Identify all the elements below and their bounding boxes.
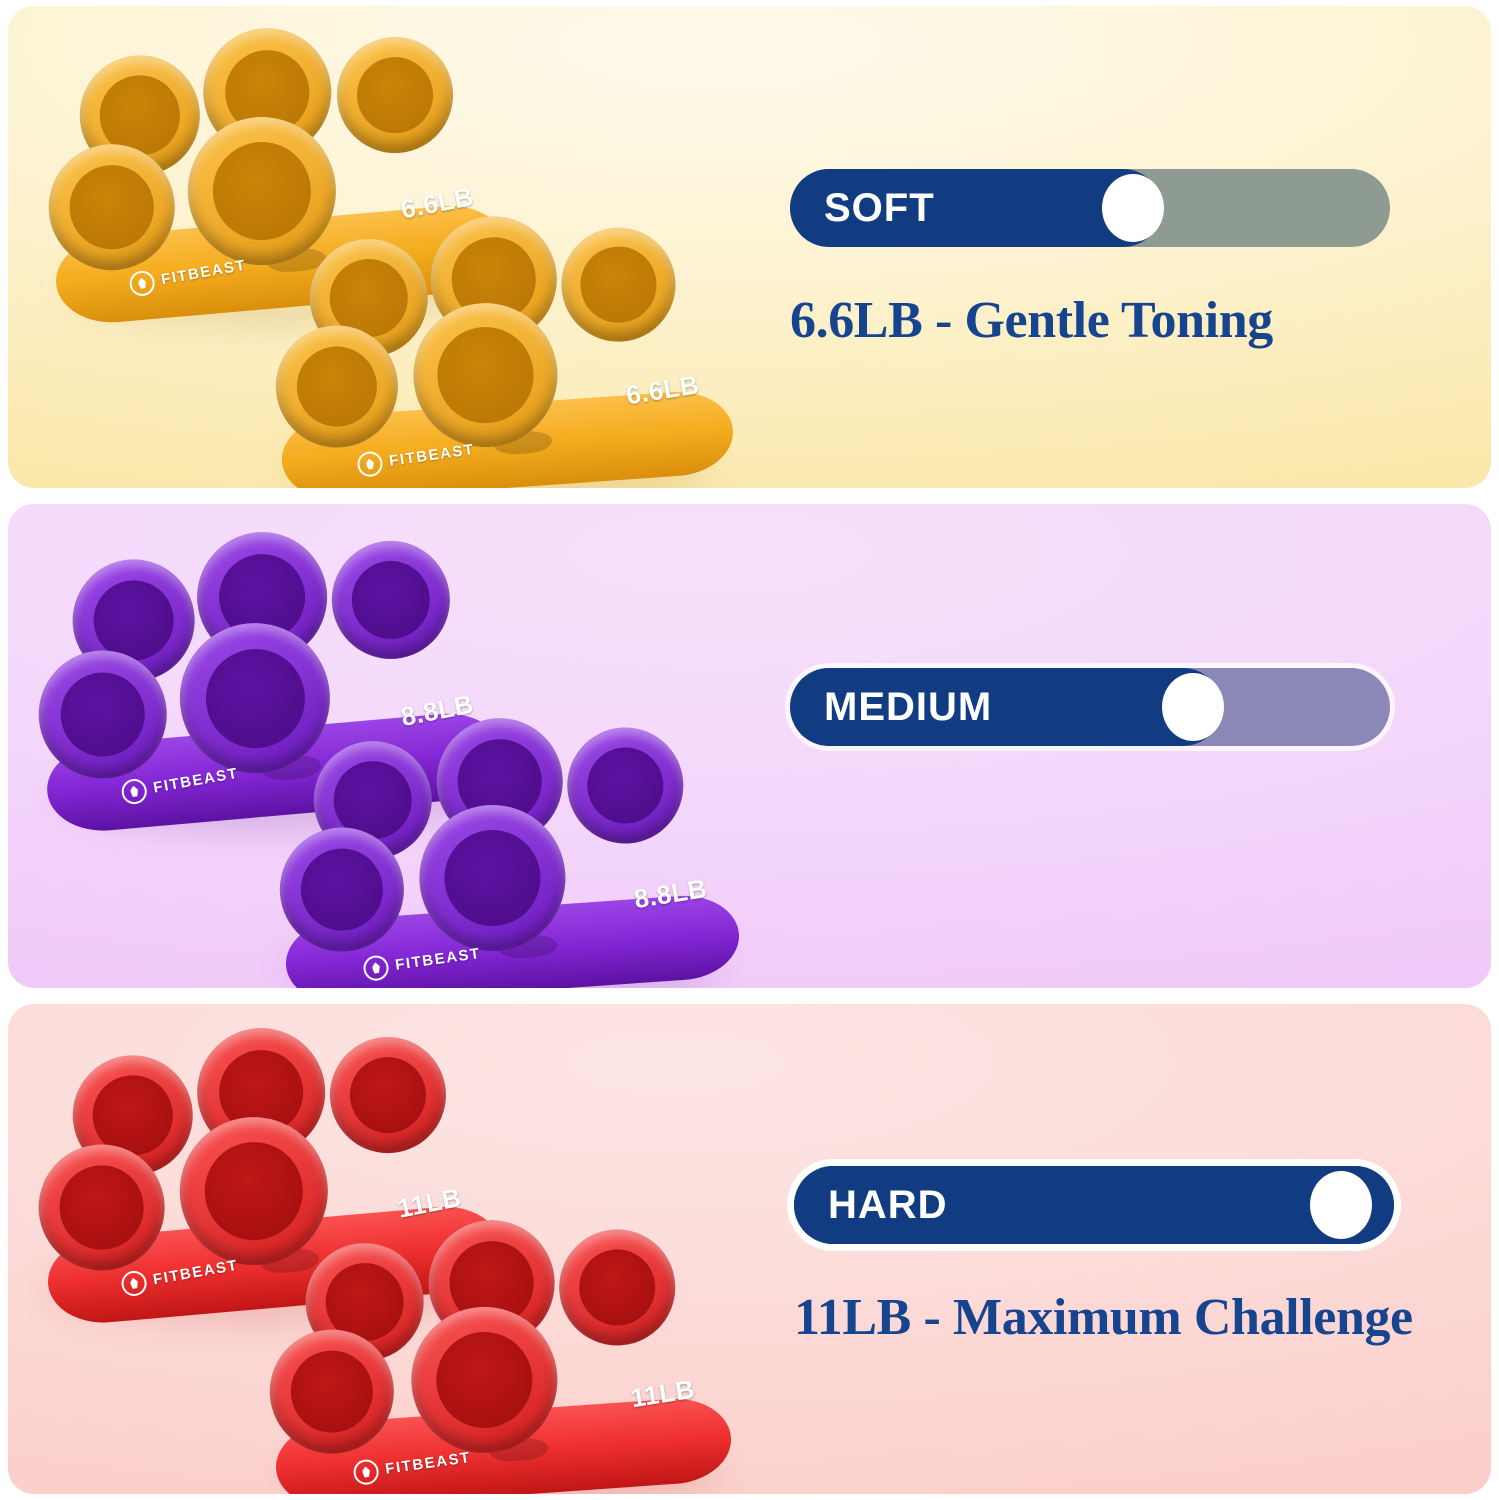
resistance-toggle-hard[interactable]: HARD	[794, 1166, 1394, 1244]
fitbeast-beast-logo-icon	[128, 269, 157, 298]
toggle-knob[interactable]	[1310, 1171, 1372, 1239]
finger-loop	[563, 724, 687, 848]
resistance-level-card-medium: 8.8LB FITBEAST 8.8LB	[8, 504, 1491, 988]
product-image-group-hard: 11LB FITBEAST 11LB	[8, 1004, 778, 1494]
product-image-group-soft: 6.6LB FITBEAST 6.6LB	[8, 6, 778, 488]
resistance-toggle-soft[interactable]: SOFT	[790, 169, 1390, 247]
product-infographic: 6.6LB FITBEAST 6.6LB	[0, 0, 1499, 1500]
level-info-panel-medium: MEDIUM	[790, 668, 1390, 790]
toggle-label: HARD	[828, 1183, 948, 1228]
resistance-toggle-medium[interactable]: MEDIUM	[790, 668, 1390, 746]
finger-loop	[558, 224, 680, 346]
fitbeast-beast-logo-icon	[120, 777, 149, 806]
product-image-group-medium: 8.8LB FITBEAST 8.8LB	[8, 504, 778, 988]
level-info-panel-soft: SOFT 6.6LB - Gentle Toning	[790, 169, 1390, 350]
finger-exerciser-band: 6.6LB FITBEAST	[257, 198, 745, 488]
toggle-label: SOFT	[824, 186, 935, 231]
level-caption-hard: 11LB - Maximum Challenge	[794, 1288, 1413, 1347]
fitbeast-beast-logo-icon	[362, 954, 390, 982]
finger-exerciser-band: 11LB FITBEAST	[251, 1202, 744, 1494]
fitbeast-beast-logo-icon	[352, 1458, 380, 1486]
toggle-label: MEDIUM	[824, 685, 992, 730]
resistance-level-card-soft: 6.6LB FITBEAST 6.6LB	[8, 6, 1491, 488]
finger-loop	[555, 1226, 679, 1350]
resistance-level-card-hard: 11LB FITBEAST 11LB	[8, 1004, 1491, 1494]
level-caption-soft: 6.6LB - Gentle Toning	[790, 291, 1390, 350]
fitbeast-beast-logo-icon	[120, 1269, 149, 1298]
level-info-panel-hard: HARD 11LB - Maximum Challenge	[794, 1166, 1413, 1347]
fitbeast-beast-logo-icon	[356, 450, 384, 478]
finger-loop	[325, 1032, 451, 1158]
toggle-knob[interactable]	[1162, 673, 1224, 741]
finger-exerciser-band: 8.8LB FITBEAST	[261, 700, 752, 988]
finger-loop	[332, 32, 458, 158]
toggle-knob[interactable]	[1102, 174, 1164, 242]
finger-loop	[327, 536, 455, 664]
